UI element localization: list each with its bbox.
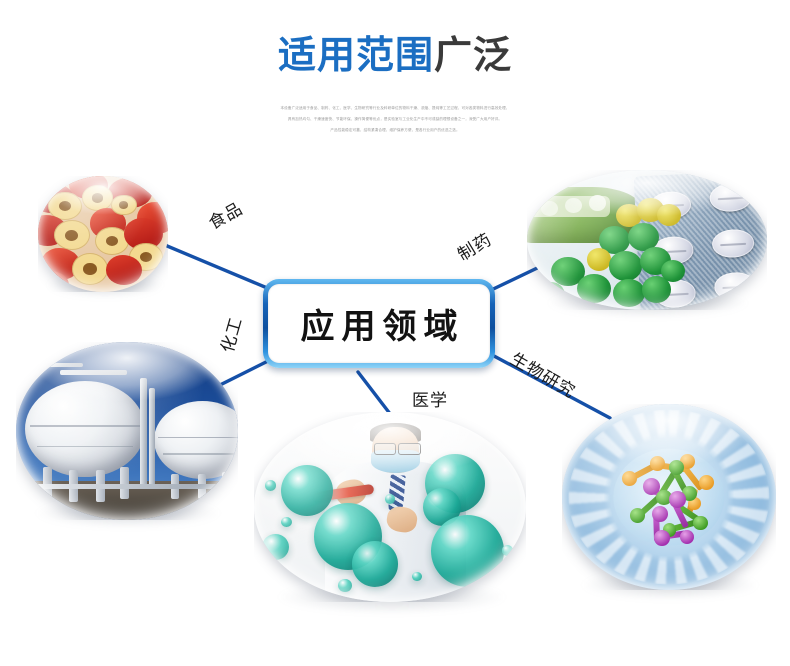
chemical-industry-bubble-icon[interactable] <box>16 342 238 520</box>
chem-scene <box>16 342 238 520</box>
center-node-label: 应用领域 <box>294 299 465 348</box>
medicine-bubble-icon[interactable] <box>254 412 526 602</box>
bio-scene <box>562 404 776 590</box>
connector-to-food <box>160 243 272 290</box>
food-bubble-icon[interactable] <box>38 176 168 292</box>
center-node-inner: 应用领域 <box>268 284 490 363</box>
pharma-scene <box>527 170 767 310</box>
pharmaceutical-bubble-icon[interactable] <box>527 170 767 310</box>
med-scene <box>254 412 526 602</box>
medicine-label: 医学 <box>412 386 448 411</box>
biological-research-bubble-icon[interactable] <box>562 404 776 590</box>
infographic-canvas: 适用范围广泛 本设备广泛适用于食品、制药、化工、医学、生物研究等行业及科研单位的… <box>0 0 790 666</box>
center-node[interactable]: 应用领域 <box>263 279 495 368</box>
food-scene <box>38 176 168 292</box>
